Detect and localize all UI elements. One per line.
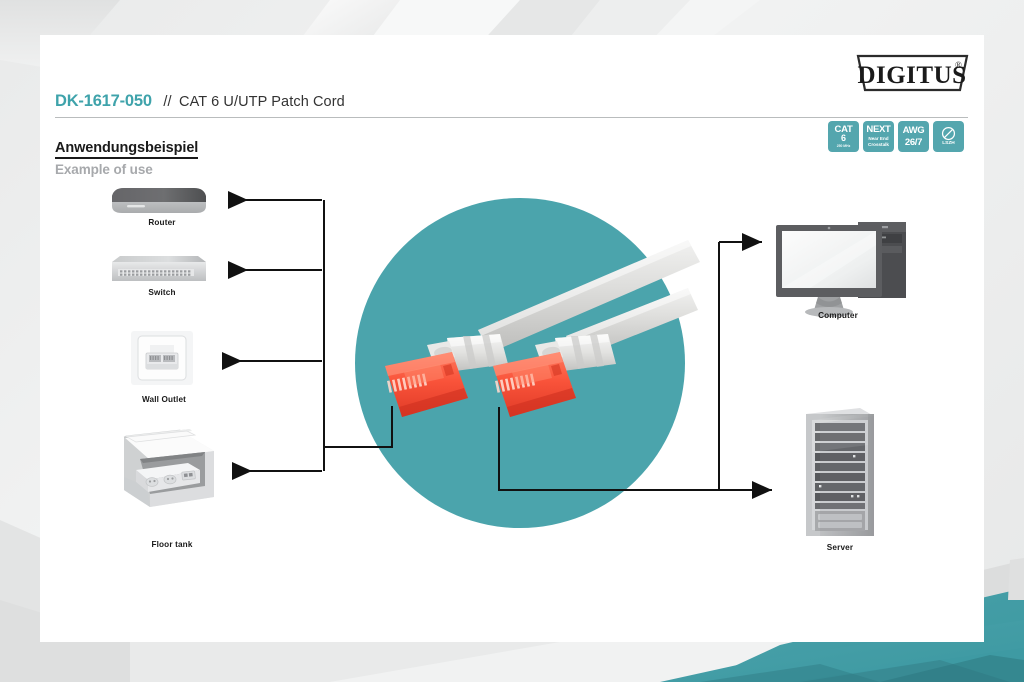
switch-label: Switch bbox=[82, 288, 242, 297]
digitus-logo: DIGITUS ® bbox=[855, 52, 970, 94]
next-badge: NEXT Near End Crosstalk bbox=[863, 121, 894, 152]
header: DK-1617-050 // CAT 6 U/UTP Patch Cord bbox=[55, 92, 968, 111]
product-name: CAT 6 U/UTP Patch Cord bbox=[179, 94, 345, 110]
logo-registered-mark: ® bbox=[955, 60, 962, 70]
header-rule bbox=[55, 117, 968, 118]
floor-tank-label: Floor tank bbox=[92, 540, 252, 549]
certification-badges: CAT 6 250 MHz NEXT Near End Crosstalk AW… bbox=[828, 121, 964, 152]
cat-badge-line3: 250 MHz bbox=[837, 145, 851, 148]
section-title-de: Anwendungsbeispiel bbox=[55, 140, 198, 159]
cat-badge-line2: 6 bbox=[841, 134, 846, 143]
awg-badge-line2: 26/7 bbox=[905, 138, 922, 148]
next-badge-line2: Near End bbox=[868, 136, 888, 142]
no-halogen-icon bbox=[941, 126, 956, 141]
computer-label: Computer bbox=[758, 311, 918, 320]
product-photo-circle bbox=[355, 198, 685, 528]
wall-outlet-label: Wall Outlet bbox=[84, 395, 244, 404]
awg-badge-line1: AWG bbox=[903, 126, 925, 136]
sku-separator: // bbox=[163, 94, 171, 110]
router-label: Router bbox=[82, 218, 242, 227]
next-badge-line1: NEXT bbox=[866, 125, 890, 135]
server-label: Server bbox=[760, 543, 920, 552]
product-sku: DK-1617-050 bbox=[55, 92, 152, 110]
section-title-en: Example of use bbox=[55, 162, 153, 177]
cat-badge: CAT 6 250 MHz bbox=[828, 121, 859, 152]
next-badge-line3: Crosstalk bbox=[868, 142, 889, 148]
lszh-badge: LSZH bbox=[933, 121, 964, 152]
awg-badge: AWG 26/7 bbox=[898, 121, 929, 152]
lszh-badge-line3: LSZH bbox=[942, 142, 955, 147]
logo-wordmark: DIGITUS bbox=[857, 62, 966, 89]
